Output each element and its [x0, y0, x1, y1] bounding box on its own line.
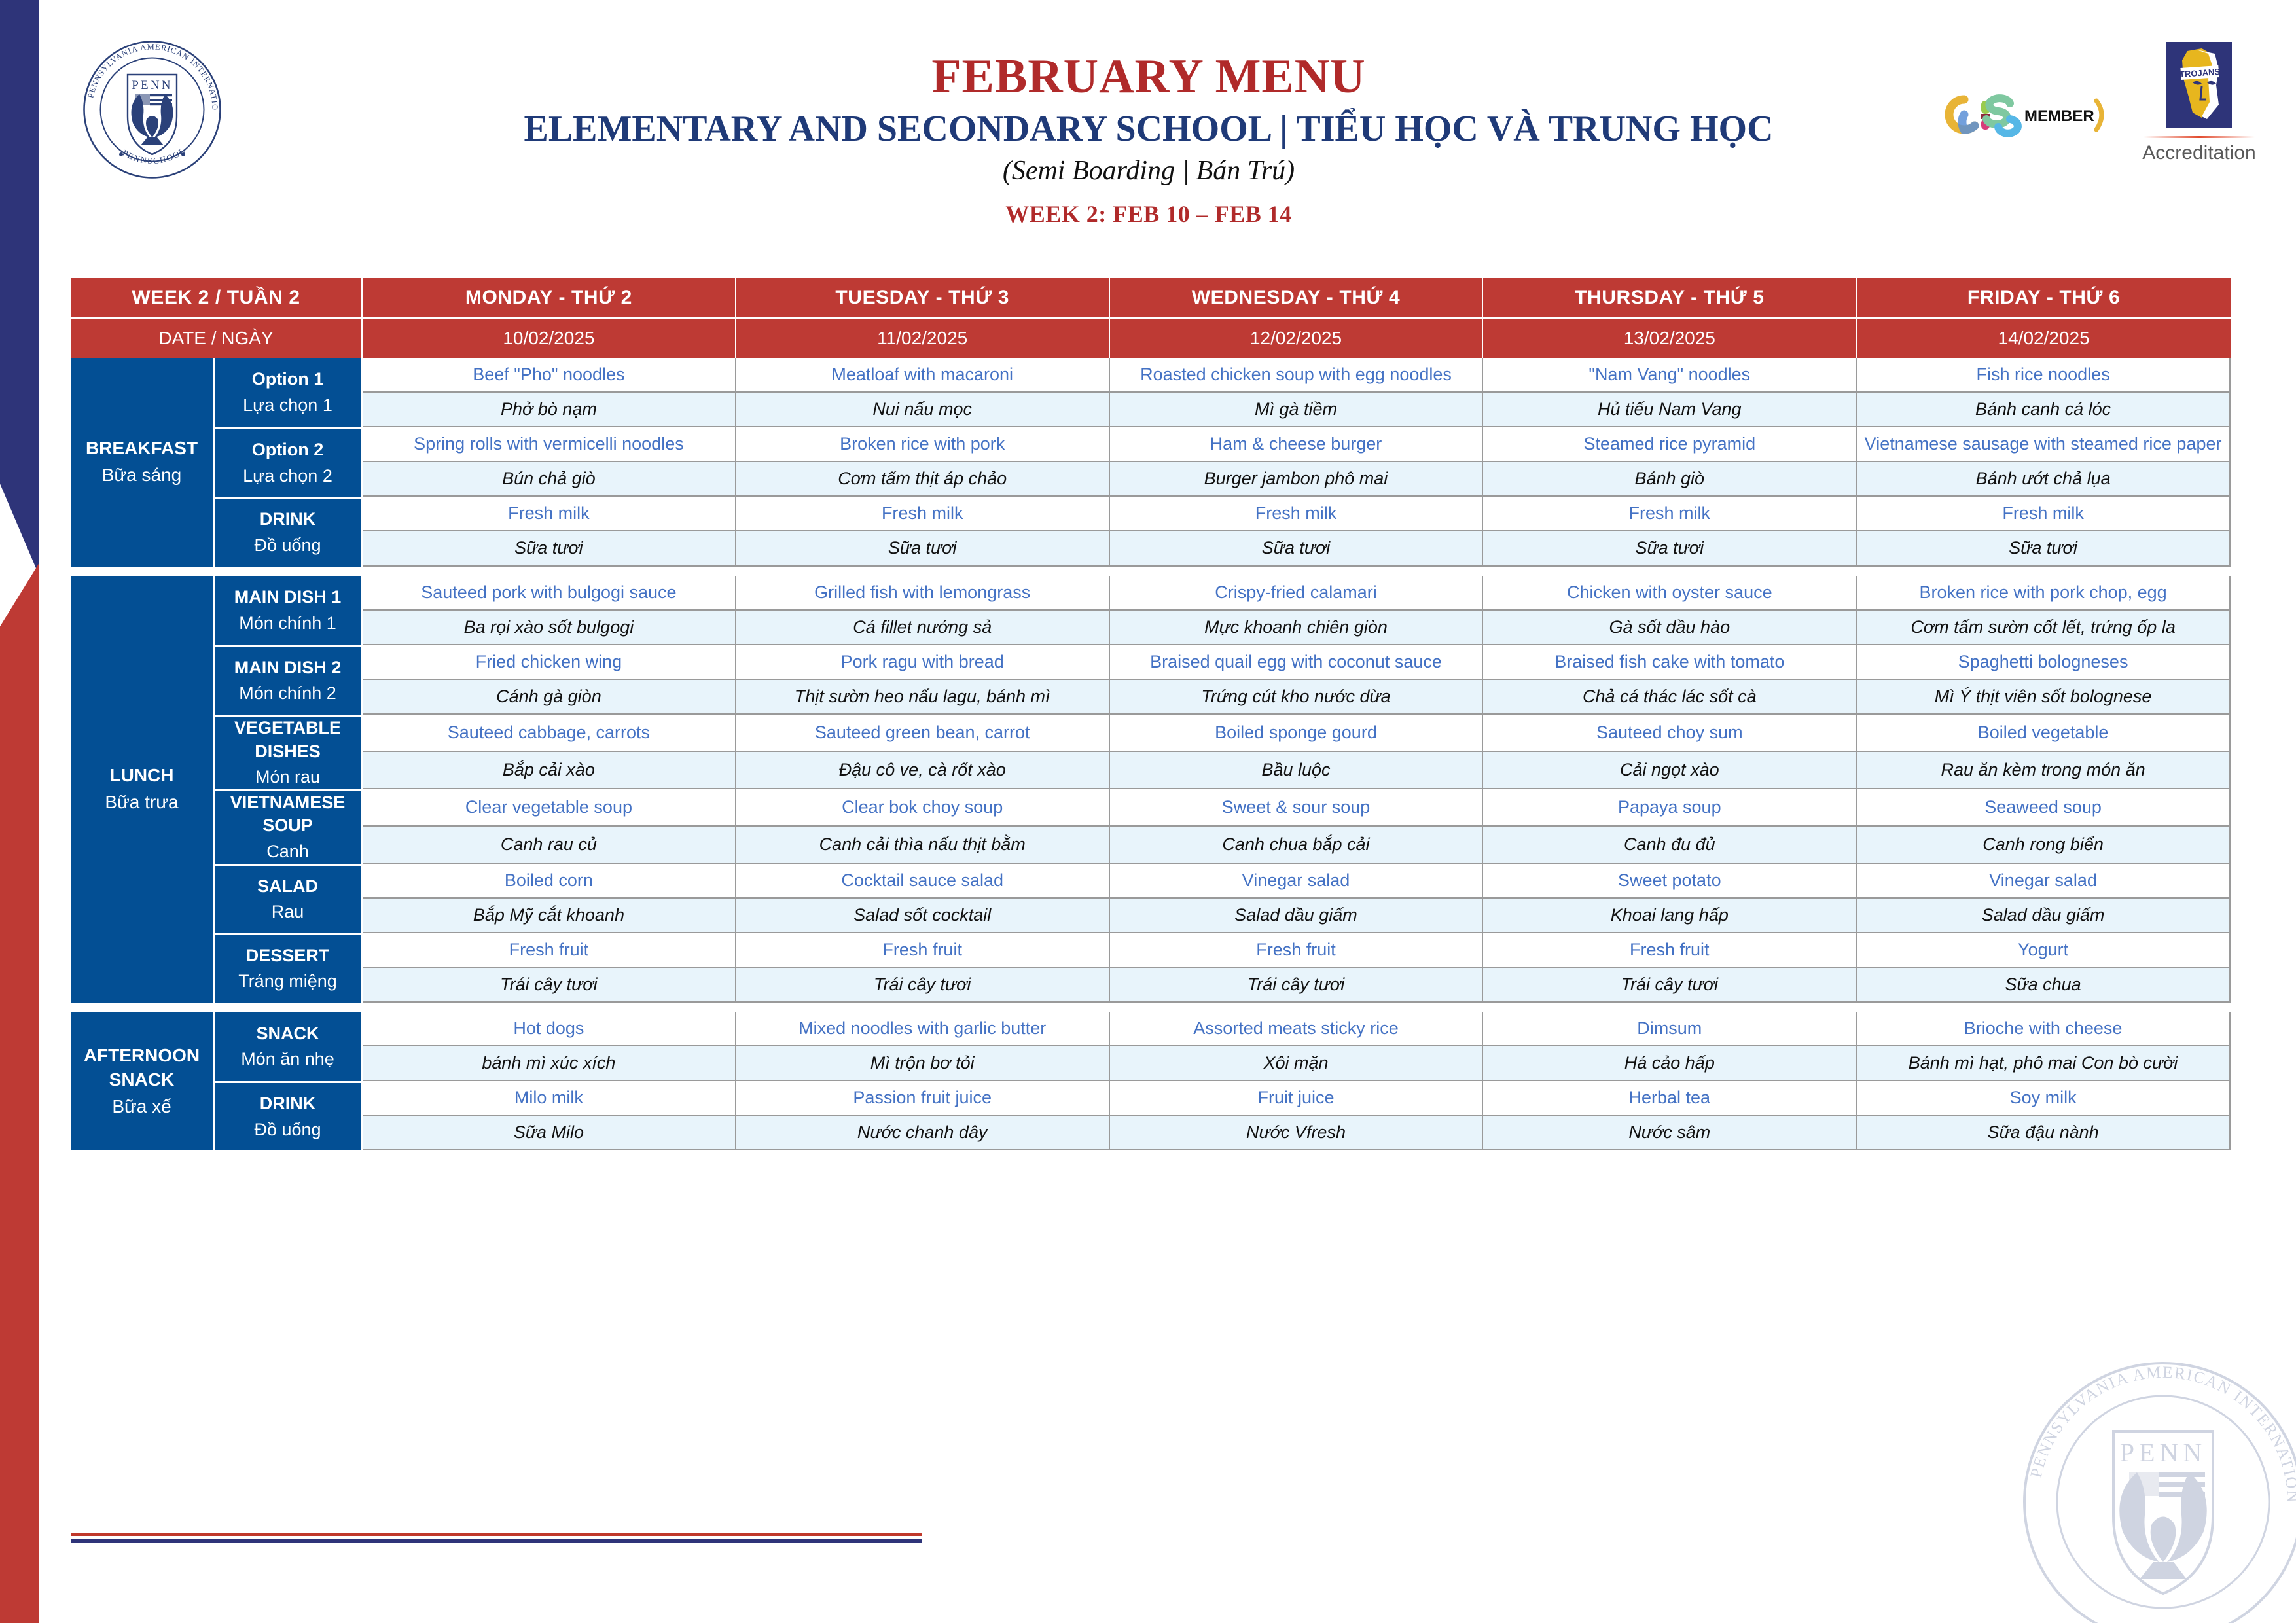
breakfast-label-1-en: Option 1 — [252, 369, 324, 389]
breakfast-2-en-day2: Broken rice with pork — [736, 427, 1110, 462]
lunch-6-vi-day1: Trái cây tươi — [363, 968, 736, 1003]
breakfast-1-vi-day5: Bánh canh cá lóc — [1857, 393, 2231, 427]
snack-1-vi-day3: Xôi mặn — [1110, 1046, 1484, 1081]
lunch-label-5-en: SALAD — [257, 876, 318, 896]
lunch-row-6-en: DESSERTTráng miệngFresh fruitFresh fruit… — [71, 933, 2231, 968]
date-header-cell: DATE / NGÀY — [71, 319, 363, 358]
lunch-row-6-vi: Trái cây tươiTrái cây tươiTrái cây tươiT… — [71, 968, 2231, 1003]
breakfast-2-en-day3: Ham & cheese burger — [1110, 427, 1484, 462]
date-cell-5: 14/02/2025 — [1857, 319, 2231, 358]
snack-section-en: AFTERNOON SNACK — [84, 1045, 200, 1090]
lunch-3-vi-day4: Cải ngọt xào — [1483, 752, 1857, 789]
school-seal-watermark: PENNSYLVANIA AMERICAN INTERNATIONAL PENN — [2019, 1358, 2296, 1623]
snack-2-en-day4: Herbal tea — [1483, 1081, 1857, 1116]
snack-2-vi-day2: Nước chanh dây — [736, 1116, 1110, 1150]
breakfast-1-vi-day3: Mì gà tiềm — [1110, 393, 1484, 427]
lunch-3-en-day4: Sauteed choy sum — [1483, 715, 1857, 752]
breakfast-2-vi-day1: Bún chả giò — [363, 462, 736, 497]
day-header-1: MONDAY - THỨ 2 — [363, 278, 736, 319]
lunch-1-en-day5: Broken rice with pork chop, egg — [1857, 576, 2231, 611]
date-cell-2: 11/02/2025 — [736, 319, 1110, 358]
lunch-3-vi-day1: Bắp cải xào — [363, 752, 736, 789]
lunch-2-en-day4: Braised fish cake with tomato — [1483, 645, 1857, 680]
snack-2-vi-day5: Sữa đậu nành — [1857, 1116, 2231, 1150]
footer-rule-red — [71, 1533, 922, 1536]
lunch-label-3-vn: Món rau — [215, 766, 361, 789]
lunch-label-3: VEGETABLE DISHESMón rau — [215, 715, 363, 789]
breakfast-1-en-day1: Beef "Pho" noodles — [363, 358, 736, 393]
lunch-label-2: MAIN DISH 2Món chính 2 — [215, 645, 363, 715]
lunch-3-en-day3: Boiled sponge gourd — [1110, 715, 1484, 752]
lunch-2-vi-day2: Thịt sườn heo nấu lagu, bánh mì — [736, 680, 1110, 715]
lunch-5-vi-day3: Salad dầu giấm — [1110, 899, 1484, 933]
cis-member-logo: MEMBER — [1934, 85, 2111, 144]
snack-section-cell: AFTERNOON SNACKBữa xế — [71, 1012, 215, 1150]
date-cell-3: 12/02/2025 — [1110, 319, 1484, 358]
breakfast-2-vi-day2: Cơm tấm thịt áp chảo — [736, 462, 1110, 497]
breakfast-1-en-day3: Roasted chicken soup with egg noodles — [1110, 358, 1484, 393]
accreditation-divider — [2144, 136, 2255, 138]
lunch-5-en-day3: Vinegar salad — [1110, 864, 1484, 899]
school-seal-logo: PENNSYLVANIA AMERICAN INTERNATIONAL SCHO… — [82, 39, 223, 180]
breakfast-2-vi-day3: Burger jambon phô mai — [1110, 462, 1484, 497]
page-subtitle: ELEMENTARY AND SECONDARY SCHOOL | TIỂU H… — [497, 107, 1800, 151]
date-cell-1: 10/02/2025 — [363, 319, 736, 358]
breakfast-row-2-en: Option 2Lựa chọn 2Spring rolls with verm… — [71, 427, 2231, 462]
breakfast-section-en: BREAKFAST — [86, 438, 198, 458]
lunch-label-3-en: VEGETABLE DISHES — [234, 718, 341, 761]
snack-row-2-en: DRINKĐồ uốngMilo milkPassion fruit juice… — [71, 1081, 2231, 1116]
breakfast-row-2-vi: Bún chả giòCơm tấm thịt áp chảoBurger ja… — [71, 462, 2231, 497]
breakfast-section-vn: Bữa sáng — [71, 463, 213, 488]
svg-text:PENN: PENN — [2120, 1438, 2206, 1467]
breakfast-row-1-vi: Phở bò nạmNui nấu mọcMì gà tiềmHủ tiếu N… — [71, 393, 2231, 427]
lunch-2-en-day2: Pork ragu with bread — [736, 645, 1110, 680]
lunch-5-en-day4: Sweet potato — [1483, 864, 1857, 899]
lunch-2-vi-day5: Mì Ý thịt viên sốt bolognese — [1857, 680, 2231, 715]
snack-1-en-day2: Mixed noodles with garlic butter — [736, 1012, 1110, 1046]
day-header-2: TUESDAY - THỨ 3 — [736, 278, 1110, 319]
lunch-2-vi-day1: Cánh gà giòn — [363, 680, 736, 715]
snack-1-vi-day4: Há cảo hấp — [1483, 1046, 1857, 1081]
footer-rules — [71, 1533, 922, 1543]
breakfast-3-en-day5: Fresh milk — [1857, 497, 2231, 531]
lunch-3-en-day1: Sauteed cabbage, carrots — [363, 715, 736, 752]
snack-2-en-day1: Milo milk — [363, 1081, 736, 1116]
snack-1-vi-day2: Mì trộn bơ tỏi — [736, 1046, 1110, 1081]
lunch-4-en-day3: Sweet & sour soup — [1110, 789, 1484, 827]
breakfast-3-en-day4: Fresh milk — [1483, 497, 1857, 531]
breakfast-2-en-day5: Vietnamese sausage with steamed rice pap… — [1857, 427, 2231, 462]
snack-label-1-vn: Món ăn nhẹ — [215, 1048, 361, 1071]
section-gap-row — [71, 1003, 2231, 1012]
breakfast-3-vi-day3: Sữa tươi — [1110, 531, 1484, 566]
week-header-cell: WEEK 2 / TUẦN 2 — [71, 278, 363, 319]
snack-2-en-day3: Fruit juice — [1110, 1081, 1484, 1116]
breakfast-row-3-en: DRINKĐồ uốngFresh milkFresh milkFresh mi… — [71, 497, 2231, 531]
lunch-4-en-day1: Clear vegetable soup — [363, 789, 736, 827]
week-number-label: WEEK 2: — [1005, 201, 1107, 227]
lunch-row-2-vi: Cánh gà giònThịt sườn heo nấu lagu, bánh… — [71, 680, 2231, 715]
lunch-1-vi-day3: Mực khoanh chiên giòn — [1110, 611, 1484, 645]
page-header: PENNSYLVANIA AMERICAN INTERNATIONAL SCHO… — [0, 0, 2296, 262]
breakfast-1-en-day2: Meatloaf with macaroni — [736, 358, 1110, 393]
snack-label-1-en: SNACK — [256, 1024, 319, 1043]
menu-page: PENNSYLVANIA AMERICAN INTERNATIONAL SCHO… — [0, 0, 2296, 1623]
lunch-6-vi-day2: Trái cây tươi — [736, 968, 1110, 1003]
lunch-label-4: VIETNAMESE SOUPCanh — [215, 789, 363, 864]
snack-label-2-en: DRINK — [260, 1094, 316, 1113]
breakfast-3-en-day2: Fresh milk — [736, 497, 1110, 531]
lunch-row-5-en: SALADRauBoiled cornCocktail sauce saladV… — [71, 864, 2231, 899]
lunch-4-vi-day4: Canh đu đủ — [1483, 827, 1857, 864]
lunch-3-en-day2: Sauteed green bean, carrot — [736, 715, 1110, 752]
lunch-4-vi-day3: Canh chua bắp cải — [1110, 827, 1484, 864]
snack-2-vi-day4: Nước sâm — [1483, 1116, 1857, 1150]
lunch-6-en-day4: Fresh fruit — [1483, 933, 1857, 968]
lunch-1-en-day4: Chicken with oyster sauce — [1483, 576, 1857, 611]
breakfast-label-2-en: Option 2 — [252, 440, 324, 459]
snack-2-en-day5: Soy milk — [1857, 1081, 2231, 1116]
breakfast-1-vi-day4: Hủ tiếu Nam Vang — [1483, 393, 1857, 427]
breakfast-label-3-en: DRINK — [260, 509, 316, 529]
svg-text:PENNSYLVANIA AMERICAN INTERNAT: PENNSYLVANIA AMERICAN INTERNATIONAL — [2019, 1358, 2296, 1504]
breakfast-3-en-day3: Fresh milk — [1110, 497, 1484, 531]
day-header-5: FRIDAY - THỨ 6 — [1857, 278, 2231, 319]
lunch-label-4-vn: Canh — [215, 840, 361, 864]
accreditation-label: Accreditation — [2134, 142, 2265, 164]
lunch-row-4-en: VIETNAMESE SOUPCanhClear vegetable soupC… — [71, 789, 2231, 827]
breakfast-1-en-day4: "Nam Vang" noodles — [1483, 358, 1857, 393]
lunch-label-4-en: VIETNAMESE SOUP — [230, 793, 346, 836]
lunch-label-6: DESSERTTráng miệng — [215, 933, 363, 1003]
breakfast-label-1-vn: Lựa chọn 1 — [215, 394, 361, 418]
lunch-4-en-day4: Papaya soup — [1483, 789, 1857, 827]
breakfast-label-1: Option 1Lựa chọn 1 — [215, 358, 363, 427]
snack-2-vi-day1: Sữa Milo — [363, 1116, 736, 1150]
breakfast-label-2-vn: Lựa chọn 2 — [215, 465, 361, 488]
svg-text:PENN: PENN — [132, 79, 172, 92]
lunch-label-2-en: MAIN DISH 2 — [234, 658, 342, 677]
snack-row-1-vi: bánh mì xúc xíchMì trộn bơ tỏiXôi mặnHá … — [71, 1046, 2231, 1081]
snack-row-2-vi: Sữa MiloNước chanh dâyNước VfreshNước sâ… — [71, 1116, 2231, 1150]
lunch-section-cell: LUNCHBữa trưa — [71, 576, 215, 1003]
breakfast-1-vi-day2: Nui nấu mọc — [736, 393, 1110, 427]
breakfast-2-vi-day4: Bánh giò — [1483, 462, 1857, 497]
snack-1-vi-day1: bánh mì xúc xích — [363, 1046, 736, 1081]
lunch-4-vi-day1: Canh rau củ — [363, 827, 736, 864]
breakfast-2-vi-day5: Bánh ướt chả lụa — [1857, 462, 2231, 497]
lunch-3-vi-day3: Bầu luộc — [1110, 752, 1484, 789]
snack-row-1-en: AFTERNOON SNACKBữa xếSNACKMón ăn nhẹHot … — [71, 1012, 2231, 1046]
lunch-6-vi-day4: Trái cây tươi — [1483, 968, 1857, 1003]
day-header-4: THURSDAY - THỨ 5 — [1483, 278, 1857, 319]
lunch-6-vi-day3: Trái cây tươi — [1110, 968, 1484, 1003]
lunch-5-vi-day5: Salad dầu giấm — [1857, 899, 2231, 933]
lunch-row-3-en: VEGETABLE DISHESMón rauSauteed cabbage, … — [71, 715, 2231, 752]
lunch-row-2-en: MAIN DISH 2Món chính 2Fried chicken wing… — [71, 645, 2231, 680]
lunch-5-vi-day2: Salad sốt cocktail — [736, 899, 1110, 933]
lunch-1-en-day2: Grilled fish with lemongrass — [736, 576, 1110, 611]
semi-boarding-label: (Semi Boarding | Bán Trú) — [497, 154, 1800, 188]
lunch-row-1-en: LUNCHBữa trưaMAIN DISH 1Món chính 1Saute… — [71, 576, 2231, 611]
trojans-badge-icon: TROJANS — [2164, 39, 2234, 131]
snack-1-en-day5: Brioche with cheese — [1857, 1012, 2231, 1046]
lunch-5-vi-day4: Khoai lang hấp — [1483, 899, 1857, 933]
lunch-3-vi-day2: Đậu cô ve, cà rốt xào — [736, 752, 1110, 789]
breakfast-section-cell: BREAKFASTBữa sáng — [71, 358, 215, 567]
lunch-1-vi-day5: Cơm tấm sườn cốt lết, trứng ốp la — [1857, 611, 2231, 645]
breakfast-3-vi-day1: Sữa tươi — [363, 531, 736, 566]
lunch-section-en: LUNCH — [110, 765, 174, 785]
menu-table-wrapper: WEEK 2 / TUẦN 2MONDAY - THỨ 2TUESDAY - T… — [71, 278, 2231, 1150]
snack-2-en-day2: Passion fruit juice — [736, 1081, 1110, 1116]
lunch-label-1: MAIN DISH 1Món chính 1 — [215, 576, 363, 645]
breakfast-3-vi-day5: Sữa tươi — [1857, 531, 2231, 566]
snack-label-2-vn: Đồ uống — [215, 1118, 361, 1142]
section-gap-cell — [71, 1003, 2231, 1012]
lunch-4-vi-day5: Canh rong biển — [1857, 827, 2231, 864]
ribbon-red-band — [0, 563, 39, 1623]
lunch-6-en-day2: Fresh fruit — [736, 933, 1110, 968]
lunch-1-en-day1: Sauteed pork with bulgogi sauce — [363, 576, 736, 611]
page-title: FEBRUARY MENU — [497, 51, 1800, 103]
snack-1-vi-day5: Bánh mì hạt, phô mai Con bò cười — [1857, 1046, 2231, 1081]
breakfast-2-en-day1: Spring rolls with vermicelli noodles — [363, 427, 736, 462]
breakfast-2-en-day4: Steamed rice pyramid — [1483, 427, 1857, 462]
lunch-3-vi-day5: Rau ăn kèm trong món ăn — [1857, 752, 2231, 789]
lunch-label-1-en: MAIN DISH 1 — [234, 587, 342, 607]
lunch-row-3-vi: Bắp cải xàoĐậu cô ve, cà rốt xàoBầu luộc… — [71, 752, 2231, 789]
breakfast-row-1-en: BREAKFASTBữa sángOption 1Lựa chọn 1Beef … — [71, 358, 2231, 393]
menu-table: WEEK 2 / TUẦN 2MONDAY - THỨ 2TUESDAY - T… — [71, 278, 2231, 1150]
snack-1-en-day1: Hot dogs — [363, 1012, 736, 1046]
table-date-row: DATE / NGÀY10/02/202511/02/202512/02/202… — [71, 319, 2231, 358]
lunch-6-vi-day5: Sữa chua — [1857, 968, 2231, 1003]
snack-1-en-day4: Dimsum — [1483, 1012, 1857, 1046]
lunch-6-en-day3: Fresh fruit — [1110, 933, 1484, 968]
breakfast-label-3-vn: Đồ uống — [215, 534, 361, 558]
breakfast-1-en-day5: Fish rice noodles — [1857, 358, 2231, 393]
lunch-1-vi-day4: Gà sốt dầu hào — [1483, 611, 1857, 645]
lunch-2-vi-day4: Chả cá thác lác sốt cà — [1483, 680, 1857, 715]
snack-1-en-day3: Assorted meats sticky rice — [1110, 1012, 1484, 1046]
lunch-2-vi-day3: Trứng cút kho nước dừa — [1110, 680, 1484, 715]
lunch-5-en-day5: Vinegar salad — [1857, 864, 2231, 899]
snack-2-vi-day3: Nước Vfresh — [1110, 1116, 1484, 1150]
snack-label-2: DRINKĐồ uống — [215, 1081, 363, 1150]
lunch-label-2-vn: Món chính 2 — [215, 682, 361, 705]
lunch-label-6-vn: Tráng miệng — [215, 970, 361, 993]
lunch-2-en-day1: Fried chicken wing — [363, 645, 736, 680]
week-range-label: WEEK 2: FEB 10 – FEB 14 — [497, 200, 1800, 228]
breakfast-label-2: Option 2Lựa chọn 2 — [215, 427, 363, 497]
lunch-5-vi-day1: Bắp Mỹ cắt khoanh — [363, 899, 736, 933]
table-header-row: WEEK 2 / TUẦN 2MONDAY - THỨ 2TUESDAY - T… — [71, 278, 2231, 319]
lunch-2-en-day3: Braised quail egg with coconut sauce — [1110, 645, 1484, 680]
lunch-label-1-vn: Món chính 1 — [215, 612, 361, 635]
lunch-6-en-day1: Fresh fruit — [363, 933, 736, 968]
lunch-5-en-day2: Cocktail sauce salad — [736, 864, 1110, 899]
lunch-1-vi-day2: Cá fillet nướng sả — [736, 611, 1110, 645]
lunch-section-vn: Bữa trưa — [71, 791, 213, 815]
lunch-4-en-day2: Clear bok choy soup — [736, 789, 1110, 827]
lunch-row-5-vi: Bắp Mỹ cắt khoanhSalad sốt cocktailSalad… — [71, 899, 2231, 933]
footer-rule-navy — [71, 1539, 922, 1543]
lunch-1-en-day3: Crispy-fried calamari — [1110, 576, 1484, 611]
snack-label-1: SNACKMón ăn nhẹ — [215, 1012, 363, 1081]
lunch-1-vi-day1: Ba rọi xào sốt bulgogi — [363, 611, 736, 645]
breakfast-row-3-vi: Sữa tươiSữa tươiSữa tươiSữa tươiSữa tươi — [71, 531, 2231, 566]
date-cell-4: 13/02/2025 — [1483, 319, 1857, 358]
lunch-row-1-vi: Ba rọi xào sốt bulgogiCá fillet nướng sả… — [71, 611, 2231, 645]
breakfast-3-vi-day4: Sữa tươi — [1483, 531, 1857, 566]
title-block: FEBRUARY MENU ELEMENTARY AND SECONDARY S… — [497, 51, 1800, 228]
lunch-4-vi-day2: Canh cải thìa nấu thịt bằm — [736, 827, 1110, 864]
lunch-label-5: SALADRau — [215, 864, 363, 933]
section-gap-cell — [71, 567, 2231, 576]
breakfast-label-3: DRINKĐồ uống — [215, 497, 363, 566]
lunch-row-4-vi: Canh rau củCanh cải thìa nấu thịt bằmCan… — [71, 827, 2231, 864]
accreditation-block: TROJANS Accreditation — [2134, 39, 2265, 164]
section-gap-row — [71, 567, 2231, 576]
snack-section-vn: Bữa xế — [71, 1095, 213, 1119]
lunch-label-6-en: DESSERT — [246, 946, 330, 965]
breakfast-3-en-day1: Fresh milk — [363, 497, 736, 531]
day-header-3: WEDNESDAY - THỨ 4 — [1110, 278, 1484, 319]
week-dates-label: FEB 10 – FEB 14 — [1107, 201, 1292, 227]
lunch-5-en-day1: Boiled corn — [363, 864, 736, 899]
breakfast-1-vi-day1: Phở bò nạm — [363, 393, 736, 427]
svg-text:MEMBER: MEMBER — [2024, 107, 2094, 125]
lunch-4-en-day5: Seaweed soup — [1857, 789, 2231, 827]
menu-table-body: WEEK 2 / TUẦN 2MONDAY - THỨ 2TUESDAY - T… — [71, 278, 2231, 1150]
breakfast-3-vi-day2: Sữa tươi — [736, 531, 1110, 566]
lunch-2-en-day5: Spaghetti bologneses — [1857, 645, 2231, 680]
lunch-3-en-day5: Boiled vegetable — [1857, 715, 2231, 752]
lunch-6-en-day5: Yogurt — [1857, 933, 2231, 968]
lunch-label-5-vn: Rau — [215, 901, 361, 924]
